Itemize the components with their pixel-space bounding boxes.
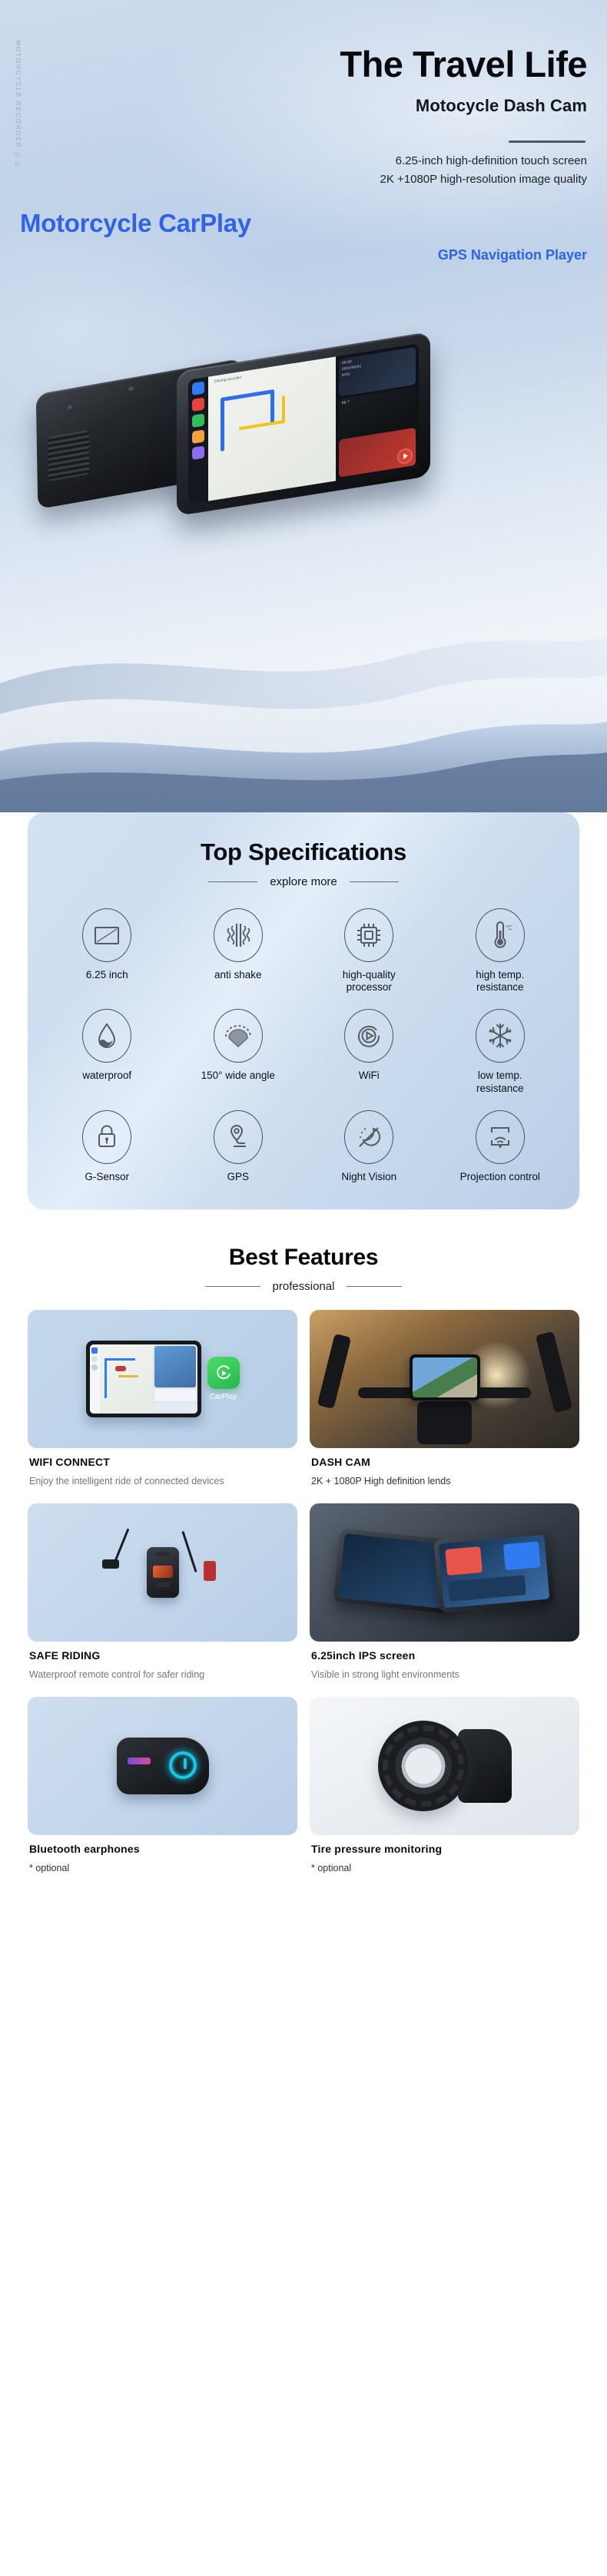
specifications-title: Top Specifications [41,838,566,866]
spec-item-gps[interactable]: GPS [173,1110,304,1183]
spec-label: G-Sensor [85,1171,129,1183]
motorcycle-dashcam-art [310,1310,579,1448]
spec-item-g-sensor[interactable]: G-Sensor [41,1110,173,1183]
feature-caption: 6.25inch IPS screen Visible in strong li… [310,1642,579,1694]
device-front-unit: Driving recorder 00:00 2023/06/01 MTD 86… [177,332,430,516]
anti-shake-icon [214,908,263,962]
page-title: The Travel Life [0,46,587,82]
widget-speed-value: 86.7 [342,400,350,405]
feature-description: Waterproof remote control for safer ridi… [29,1668,296,1682]
feature-title: Bluetooth earphones [29,1843,296,1855]
screen-nav-label: Driving recorder [214,375,242,385]
spec-label: waterproof [82,1070,131,1082]
snowflake-icon [476,1009,525,1063]
feature-caption: SAFE RIDING Waterproof remote control fo… [28,1642,297,1694]
feature-title: 6.25inch IPS screen [311,1649,578,1662]
carplay-icon [207,1357,240,1389]
screen-app-rail [188,377,208,504]
projection-control-icon [476,1110,525,1164]
tire-pressure-art [310,1697,579,1835]
widget-date: 2023/06/01 [342,364,362,371]
carplay-navigation-art: CarPlay [28,1310,297,1448]
tablet-device-mockup [86,1341,201,1417]
specifications-subtitle: explore more [270,875,337,888]
feature-description: Enjoy the intelligent ride of connected … [29,1474,296,1488]
remote-control-mockup [147,1547,179,1598]
spec-label: low temp. resistance [454,1070,546,1094]
rail-icon-phone [192,413,204,428]
spec-item-high-temp[interactable]: °C high temp. resistance [435,908,566,994]
feature-card-ips-screen[interactable]: 6.25inch IPS screen Visible in strong li… [310,1503,579,1694]
screen-size-icon [82,908,131,962]
spec-label: high-quality processor [323,969,415,994]
feature-title: Tire pressure monitoring [311,1843,578,1855]
hero-blue-heading: Motorcycle CarPlay [20,209,251,238]
hero-divider [509,141,585,143]
feature-card-dash-cam[interactable]: DASH CAM 2K + 1080P High definition lend… [310,1310,579,1500]
svg-text:°C: °C [506,924,512,931]
spec-label: Projection control [460,1171,540,1183]
feature-card-safe-riding[interactable]: SAFE RIDING Waterproof remote control fo… [28,1503,297,1694]
hero-section: MOTORCYCLE RECORDER ▷▷ The Travel Life M… [0,0,607,814]
processor-chip-icon [344,908,393,962]
spec-item-projection[interactable]: Projection control [435,1110,566,1183]
earphone-body [117,1738,209,1794]
feature-title: WIFI CONNECT [29,1456,296,1468]
spec-label: Night Vision [341,1171,396,1183]
spec-label: 6.25 inch [86,969,128,981]
specifications-section: Top Specifications explore more 6.25 inc… [0,812,607,1226]
features-title: Best Features [0,1245,607,1271]
hero-spec-line-2: 2K +1080P high-resolution image quality [0,170,587,189]
rail-icon-navigation [192,381,204,395]
feature-description: * optional [29,1861,296,1875]
carplay-badge-label: CarPlay [207,1393,240,1401]
g-sensor-lock-icon [82,1110,131,1164]
feature-title: SAFE RIDING [29,1649,296,1662]
power-button-ring [169,1751,197,1779]
rail-icon-settings [192,445,204,460]
screen-widgets: 00:00 2023/06/01 MTD 86.7 [336,343,419,481]
feature-caption: Tire pressure monitoring * optional [310,1835,579,1887]
tire-icon [378,1721,469,1811]
best-features-section: Best Features professional [0,1226,607,1907]
spec-item-waterproof[interactable]: waterproof [41,1009,173,1094]
night-vision-icon [344,1110,393,1164]
feature-caption: Bluetooth earphones * optional [28,1835,297,1887]
spec-item-screen-size[interactable]: 6.25 inch [41,908,173,994]
mounted-dashcam-screen [410,1354,480,1400]
features-rule-left [205,1286,260,1287]
record-button-icon [399,449,411,464]
specifications-panel: Top Specifications explore more 6.25 inc… [28,812,579,1209]
high-temperature-icon: °C [476,908,525,962]
page-subtitle: Motocycle Dash Cam [0,96,587,116]
hero-spec-lines: 6.25-inch high-definition touch screen 2… [0,152,587,189]
carplay-badge-group: CarPlay [207,1357,240,1401]
rail-icon-record [192,397,204,412]
spec-label: GPS [227,1171,249,1183]
widget-time: 00:00 [342,359,352,365]
features-rule-right [347,1286,402,1287]
spec-item-night-vision[interactable]: Night Vision [303,1110,435,1183]
feature-title: DASH CAM [311,1456,578,1468]
feature-description: Visible in strong light environments [311,1668,578,1682]
spec-item-anti-shake[interactable]: anti shake [173,908,304,994]
spec-label: WiFi [359,1070,380,1082]
device-mockup-right [433,1529,555,1613]
feature-description: * optional [311,1861,578,1875]
specifications-subtitle-row: explore more [41,875,566,888]
spec-item-low-temp[interactable]: low temp. resistance [435,1009,566,1094]
hero-blue-subheading: GPS Navigation Player [0,247,587,263]
feature-card-tire-pressure[interactable]: Tire pressure monitoring * optional [310,1697,579,1887]
wide-angle-icon [214,1009,263,1063]
feature-caption: DASH CAM 2K + 1080P High definition lend… [310,1448,579,1500]
subtitle-rule-left [208,881,257,882]
wifi-play-icon [344,1009,393,1063]
spec-label: anti shake [214,969,262,981]
spec-item-wifi[interactable]: WiFi [303,1009,435,1094]
waterproof-drop-icon [82,1009,131,1063]
widget-info: MTD [342,372,350,377]
feature-card-bluetooth-earphones[interactable]: Bluetooth earphones * optional [28,1697,297,1887]
spec-label: 150° wide angle [201,1070,275,1082]
waterproof-remote-art [28,1503,297,1642]
features-subtitle-row: professional [0,1280,607,1293]
feature-description: 2K + 1080P High definition lends [311,1474,578,1488]
spec-label: high temp. resistance [454,969,546,994]
rail-icon-music [192,429,204,444]
specifications-grid: 6.25 inch anti shake [41,908,566,1183]
features-card-grid: CarPlay WIFI CONNECT Enjoy the intellige… [28,1310,579,1887]
remote-body [147,1547,179,1598]
motorcycle-wheel-mockup [378,1721,512,1811]
subtitle-rule-right [350,881,399,882]
gps-pin-icon [214,1110,263,1164]
hero-spec-line-1: 6.25-inch high-definition touch screen [0,152,587,170]
bluetooth-earphone-art [28,1697,297,1835]
spec-item-processor[interactable]: high-quality processor [303,908,435,994]
product-device-illustration: Driving recorder 00:00 2023/06/01 MTD 86… [0,330,607,584]
spec-item-wide-angle[interactable]: 150° wide angle [173,1009,304,1094]
screen-map-area: Driving recorder [208,356,336,501]
ips-screen-art [310,1503,579,1642]
device-screen: Driving recorder 00:00 2023/06/01 MTD 86… [188,343,419,504]
feature-caption: WIFI CONNECT Enjoy the intelligent ride … [28,1448,297,1500]
features-subtitle: professional [273,1280,335,1293]
feature-card-wifi-connect[interactable]: CarPlay WIFI CONNECT Enjoy the intellige… [28,1310,297,1500]
